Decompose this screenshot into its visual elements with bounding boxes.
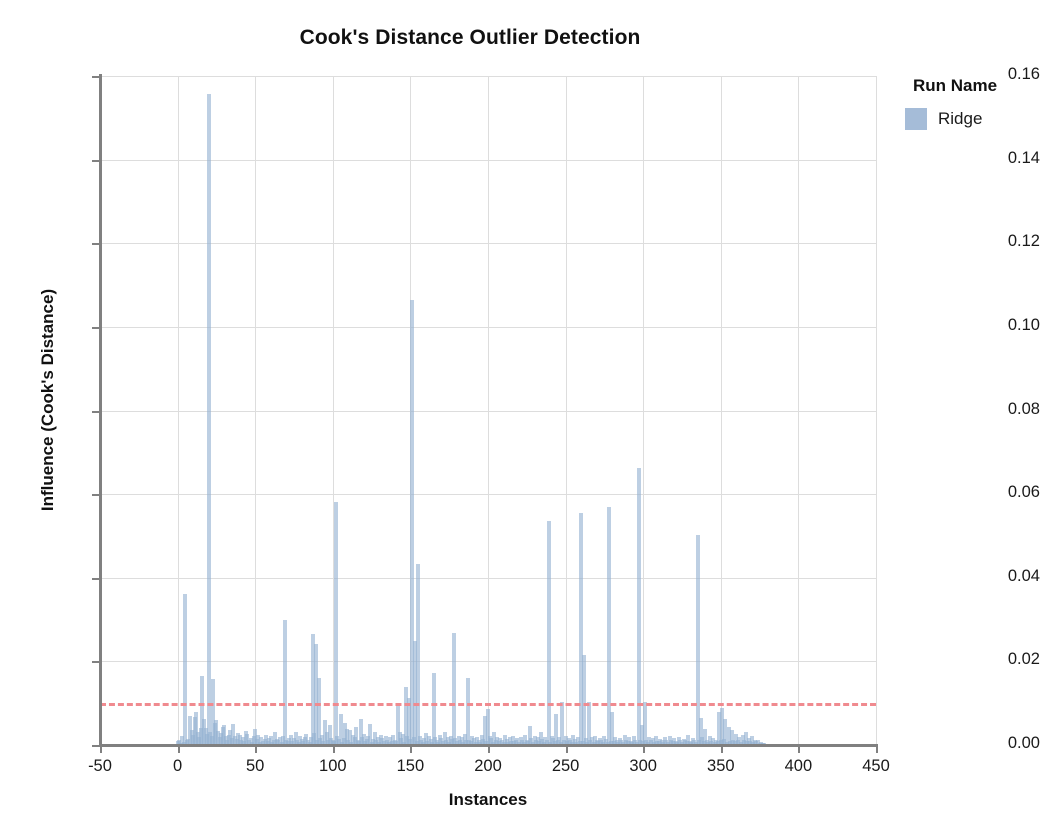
y-tick-label: 0.02 (956, 650, 1040, 669)
x-tick-mark (721, 745, 723, 753)
x-tick-label: 100 (293, 757, 373, 776)
y-tick-label: 0.00 (956, 734, 1040, 753)
y-tick-label: 0.06 (956, 483, 1040, 502)
y-tick-mark (92, 327, 100, 329)
x-tick-mark (178, 745, 180, 753)
x-tick-mark (255, 745, 257, 753)
x-tick-mark (643, 745, 645, 753)
y-tick-mark (92, 494, 100, 496)
chart-title: Cook's Distance Outlier Detection (0, 26, 940, 50)
x-tick-label: 400 (758, 757, 838, 776)
x-tick-label: 250 (526, 757, 606, 776)
x-tick-mark (798, 745, 800, 753)
x-tick-label: 450 (836, 757, 916, 776)
x-tick-mark (333, 745, 335, 753)
gridline-vertical (876, 76, 877, 745)
legend-title: Run Name (913, 76, 1035, 96)
y-tick-mark (92, 243, 100, 245)
x-tick-mark (876, 745, 878, 753)
chart-root: Cook's Distance Outlier Detection 0.000.… (0, 0, 1040, 840)
legend-item-ridge[interactable]: Ridge (905, 108, 1035, 130)
legend-label-ridge: Ridge (938, 109, 982, 129)
threshold-layer (100, 76, 876, 745)
y-tick-mark (92, 411, 100, 413)
x-tick-label: 300 (603, 757, 683, 776)
y-axis-label: Influence (Cook's Distance) (38, 140, 58, 660)
threshold-line (100, 703, 876, 706)
y-tick-mark (92, 160, 100, 162)
y-tick-label: 0.10 (956, 316, 1040, 335)
y-tick-mark (92, 745, 100, 747)
y-tick-label: 0.14 (956, 149, 1040, 168)
x-tick-label: 200 (448, 757, 528, 776)
x-tick-mark (566, 745, 568, 753)
x-tick-mark (100, 745, 102, 753)
y-tick-label: 0.08 (956, 400, 1040, 419)
x-axis-label: Instances (100, 790, 876, 810)
y-tick-label: 0.12 (956, 232, 1040, 251)
x-tick-label: 50 (215, 757, 295, 776)
x-tick-label: -50 (60, 757, 140, 776)
y-tick-mark (92, 76, 100, 78)
x-tick-label: 150 (370, 757, 450, 776)
y-tick-mark (92, 661, 100, 663)
x-tick-mark (410, 745, 412, 753)
y-tick-mark (92, 578, 100, 580)
plot-area (100, 76, 876, 745)
legend: Run Name Ridge (905, 76, 1035, 130)
legend-swatch-ridge (905, 108, 927, 130)
x-tick-label: 350 (681, 757, 761, 776)
x-tick-label: 0 (138, 757, 218, 776)
y-tick-label: 0.04 (956, 567, 1040, 586)
x-tick-mark (488, 745, 490, 753)
